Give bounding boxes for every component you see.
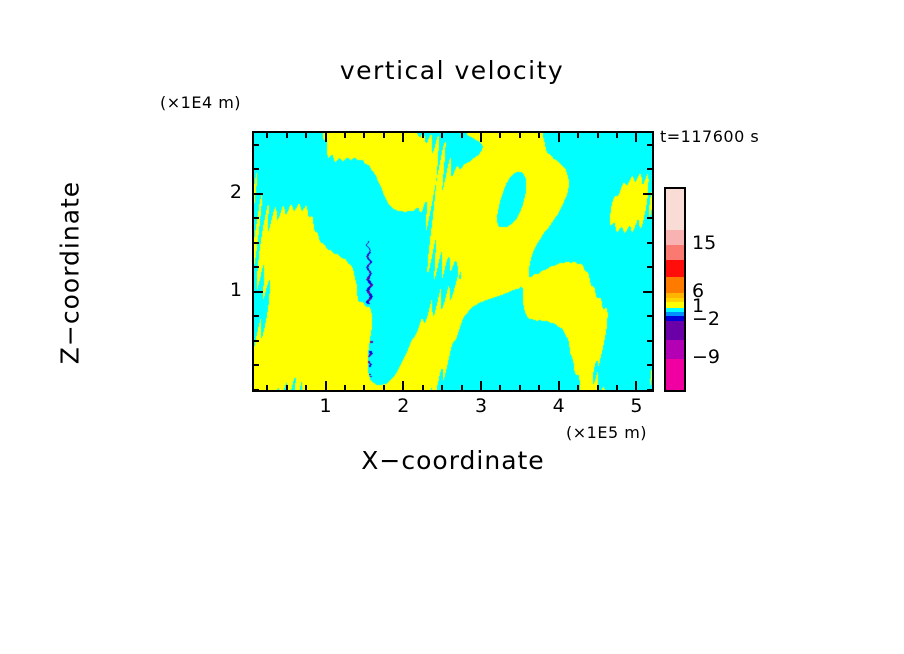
y-tick-left xyxy=(254,242,259,244)
y-axis-unit-label: (×1E4 m) xyxy=(160,93,241,112)
x-tick-bottom xyxy=(441,385,443,390)
x-tick-bottom xyxy=(480,381,482,390)
x-tick-top xyxy=(266,133,268,138)
x-tick-top xyxy=(441,133,443,138)
x-tick-bottom xyxy=(597,385,599,390)
x-tick-bottom xyxy=(558,381,560,390)
x-tick-top xyxy=(538,133,540,138)
x-tick-bottom xyxy=(519,385,521,390)
page-title: vertical velocity xyxy=(0,56,904,85)
x-tick-bottom xyxy=(383,385,385,390)
x-tick-top xyxy=(363,133,365,138)
colorbar-band xyxy=(666,321,684,340)
x-tick-top xyxy=(402,133,404,142)
y-tick-left xyxy=(254,364,259,366)
x-tick-top xyxy=(499,133,501,138)
x-tick-bottom xyxy=(402,381,404,390)
y-tick-left xyxy=(254,193,263,195)
x-tick-top xyxy=(325,133,327,142)
y-tick-left xyxy=(254,389,259,391)
y-tick-right xyxy=(643,193,652,195)
colorbar-band xyxy=(666,359,684,390)
y-tick-right xyxy=(647,315,652,317)
y-tick-right xyxy=(647,217,652,219)
colorbar-band xyxy=(666,230,684,245)
y-tick-left xyxy=(254,168,259,170)
y-tick-label: 1 xyxy=(212,279,242,301)
x-tick-bottom xyxy=(266,385,268,390)
colorbar-tick-label: −2 xyxy=(692,308,720,330)
x-tick-label: 3 xyxy=(461,395,501,417)
y-tick-right xyxy=(647,364,652,366)
x-tick-bottom xyxy=(616,385,618,390)
x-tick-label: 2 xyxy=(383,395,423,417)
x-tick-label: 1 xyxy=(306,395,346,417)
x-tick-label: 5 xyxy=(616,395,656,417)
x-tick-bottom xyxy=(577,385,579,390)
x-tick-top xyxy=(461,133,463,138)
x-tick-top xyxy=(422,133,424,138)
y-tick-right xyxy=(647,340,652,342)
colorbar-band xyxy=(666,245,684,259)
y-tick-left xyxy=(254,144,259,146)
y-axis-title: Z−coordinate xyxy=(56,143,85,403)
x-tick-top xyxy=(286,133,288,138)
y-tick-right xyxy=(647,389,652,391)
y-tick-right xyxy=(647,168,652,170)
colorbar-band xyxy=(666,340,684,358)
x-tick-top xyxy=(383,133,385,138)
colorbar-band xyxy=(666,260,684,277)
x-axis-title: X−coordinate xyxy=(252,446,654,475)
x-tick-bottom xyxy=(325,381,327,390)
x-tick-top xyxy=(519,133,521,138)
y-tick-right xyxy=(643,291,652,293)
x-tick-top xyxy=(616,133,618,138)
x-tick-bottom xyxy=(422,385,424,390)
x-tick-top xyxy=(344,133,346,138)
colorbar-tick-label: 15 xyxy=(692,232,716,254)
x-tick-top xyxy=(480,133,482,142)
colorbar-tick-label: −9 xyxy=(692,346,720,368)
y-tick-right xyxy=(647,144,652,146)
colorbar-band xyxy=(666,189,684,230)
x-tick-bottom xyxy=(538,385,540,390)
x-axis-unit-label: (×1E5 m) xyxy=(566,423,647,442)
y-tick-left xyxy=(254,340,259,342)
x-tick-top xyxy=(558,133,560,142)
x-tick-bottom xyxy=(305,385,307,390)
x-tick-top xyxy=(577,133,579,138)
x-tick-label: 4 xyxy=(539,395,579,417)
x-tick-bottom xyxy=(344,385,346,390)
x-tick-bottom xyxy=(461,385,463,390)
x-tick-top xyxy=(597,133,599,138)
y-tick-left xyxy=(254,266,259,268)
y-tick-left xyxy=(254,291,263,293)
y-tick-left xyxy=(254,217,259,219)
colorbar xyxy=(664,187,686,392)
x-tick-bottom xyxy=(635,381,637,390)
y-tick-left xyxy=(254,315,259,317)
x-tick-top xyxy=(305,133,307,138)
y-tick-label: 2 xyxy=(212,181,242,203)
x-tick-bottom xyxy=(286,385,288,390)
x-tick-bottom xyxy=(499,385,501,390)
y-tick-right xyxy=(647,266,652,268)
time-annotation: t=117600 s xyxy=(660,127,759,146)
colorbar-band xyxy=(666,277,684,293)
x-tick-bottom xyxy=(363,385,365,390)
vertical-velocity-field xyxy=(254,133,652,390)
x-tick-top xyxy=(635,133,637,142)
heatmap-plot-area xyxy=(252,131,654,392)
y-tick-right xyxy=(647,242,652,244)
